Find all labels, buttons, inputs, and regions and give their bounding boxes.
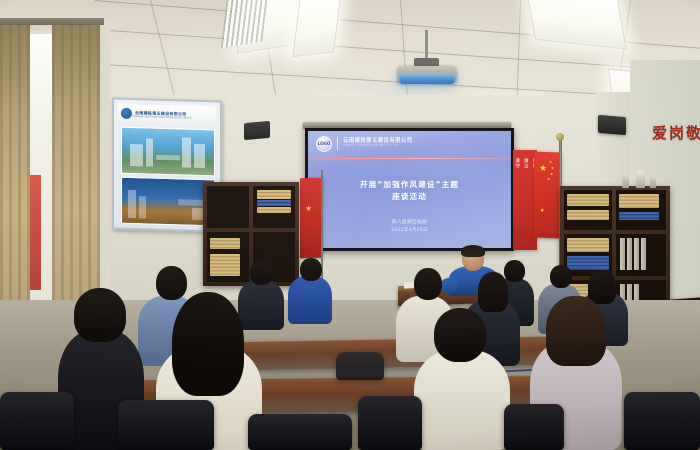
slide-header: LOGO 云南建投第五建设有限公司 YUNNAN CONSTRUCTION No… (308, 131, 511, 156)
flag-star-icon: ★ (547, 178, 550, 182)
meeting-room-photo: 云南建投第五建设有限公司 YUNNAN CONSTRUCTION ENGINEE… (0, 0, 700, 450)
slide-title-block: 开展“加强作风建设”主题 座谈活动 (308, 179, 511, 203)
flag-pole-finial (556, 133, 564, 141)
binder (634, 238, 639, 270)
presentation-slide: LOGO 云南建投第五建设有限公司 YUNNAN CONSTRUCTION No… (308, 131, 511, 248)
attendee-torso (414, 350, 510, 450)
national-flag: ★ ★ ★ ★ ★ ★ (534, 152, 560, 239)
flag-star-icon: ★ (549, 161, 552, 165)
wall-calligraphy: 爱岗敬业 (652, 122, 700, 148)
document-stack (567, 238, 609, 252)
trophy-icon (622, 172, 629, 188)
poster-header: 云南建投第五建设有限公司 (118, 104, 216, 125)
attendee-head (250, 261, 273, 285)
chair-back (336, 352, 384, 380)
flag-star-icon: ★ (551, 167, 554, 171)
slide-organization: 第八监察区站部 (308, 219, 511, 227)
attendee-head (504, 260, 525, 282)
presenter-hair (461, 245, 485, 257)
company-name-en: YUNNAN CONSTRUCTION No.5 CO., LTD. (343, 145, 413, 148)
slide-title-line-1: 开展“加强作风建设”主题 (308, 179, 511, 191)
ceiling-light-panel (525, 0, 626, 49)
wall-speaker-right (598, 115, 626, 135)
party-flag: ★ (300, 178, 322, 259)
banner-column-2: 廉洁 (522, 158, 529, 250)
curtain-left (0, 22, 30, 332)
binder (641, 238, 646, 270)
chair-back (358, 396, 422, 450)
attendee-torso (238, 280, 284, 330)
ceiling-light-grille (221, 0, 270, 48)
slide-date: 2022年4月26日 (308, 227, 511, 234)
attendee-head (74, 288, 126, 342)
document-stack (210, 238, 240, 249)
binder (627, 238, 632, 270)
chair-back (248, 414, 352, 450)
curtain-right (52, 22, 100, 334)
ceiling-light-panel (292, 0, 341, 57)
logo-text: LOGO (318, 141, 331, 146)
banner-column-1: 遵守 (513, 158, 520, 250)
document-stack (257, 200, 291, 206)
poster-photo-cityscape (121, 177, 215, 227)
curtain-rail (0, 18, 104, 25)
company-name-block: 云南建投第五建设有限公司 YUNNAN CONSTRUCTION No.5 CO… (343, 139, 413, 147)
flag-star-icon: ★ (539, 165, 548, 174)
chair-back (504, 404, 564, 450)
wall-speaker-left (244, 121, 270, 140)
document-stack (257, 190, 291, 199)
header-divider (337, 137, 338, 150)
attendee-hair (172, 292, 244, 396)
projection-screen: LOGO 云南建投第五建设有限公司 YUNNAN CONSTRUCTION No… (305, 128, 514, 251)
attendee-head (156, 266, 187, 300)
document-stack (619, 194, 659, 208)
party-emblem-icon: ★ (305, 204, 315, 214)
document-stack (567, 210, 609, 220)
projector-mount-rod (425, 30, 428, 60)
slide-accent-rule (308, 158, 511, 159)
chair-back (118, 400, 214, 450)
slide-footer-block: 第八监察区站部 2022年4月26日 (308, 219, 511, 234)
chair-back (624, 392, 700, 450)
document-stack (567, 194, 609, 206)
trophy-icon (636, 170, 645, 188)
attendee-hair (546, 296, 606, 366)
document-stack (210, 254, 240, 276)
chair-back (0, 392, 74, 450)
trophy-icon (650, 175, 656, 188)
document-stack (619, 212, 659, 220)
attendee-head (300, 258, 322, 281)
document-stack (257, 207, 291, 213)
projector-lens (400, 76, 454, 84)
flag-star-icon: ★ (550, 173, 553, 177)
attendee-head (434, 308, 486, 362)
attendee-hair (588, 270, 616, 304)
window-exterior-red-object (30, 175, 41, 290)
slide-title-line-2: 座谈活动 (308, 191, 511, 203)
attendee-torso (288, 276, 332, 324)
company-logo-icon (121, 107, 132, 118)
document-stack (567, 256, 609, 270)
attendee-head (550, 265, 572, 288)
poster-photo-bridge (121, 127, 215, 177)
attendee-head (414, 268, 442, 300)
attendee-hair (478, 272, 508, 312)
flag-star-icon: ★ (540, 210, 544, 214)
company-logo-icon: LOGO (316, 136, 332, 152)
binder (620, 238, 625, 270)
